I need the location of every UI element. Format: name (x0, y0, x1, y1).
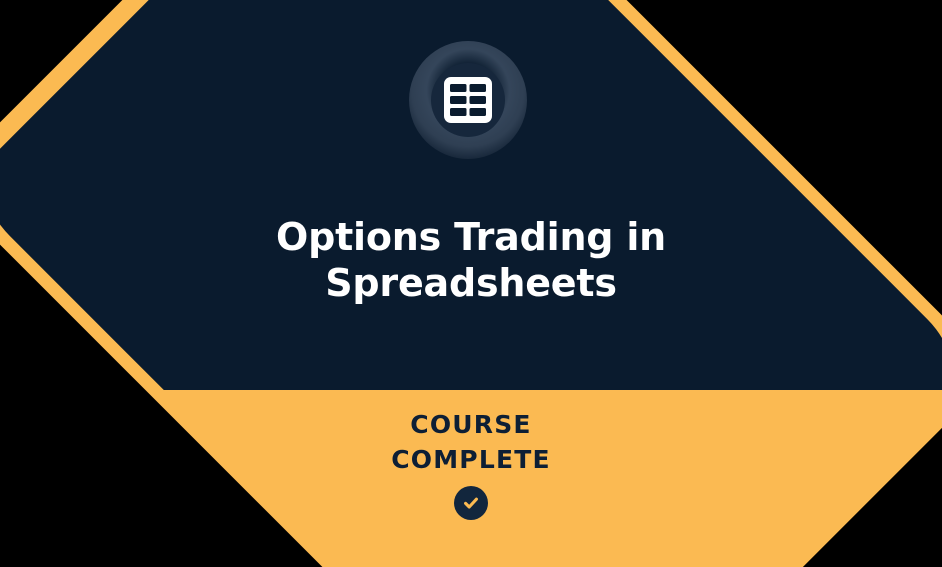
course-title: Options Trading in Spreadsheets (171, 214, 771, 306)
course-completion-badge: Options Trading in Spreadsheets COURSE C… (0, 0, 942, 567)
completion-status-block: COURSE COMPLETE (171, 407, 771, 520)
check-circle-icon (454, 486, 488, 520)
completion-status-label: COURSE COMPLETE (171, 407, 771, 477)
